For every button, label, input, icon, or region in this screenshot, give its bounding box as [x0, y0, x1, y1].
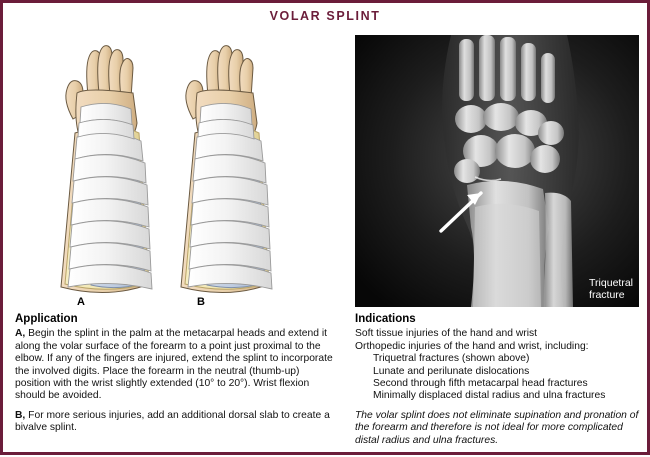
xray-caption-line-1: Triquetral: [589, 277, 633, 289]
application-paragraph-a: A, Begin the splint in the palm at the m…: [15, 328, 337, 402]
splint-illustration: A: [15, 33, 335, 309]
xray-caption: Triquetral fracture: [589, 277, 633, 301]
list-item: Second through fifth metacarpal head fra…: [373, 378, 640, 390]
application-column: Application A, Begin the splint in the p…: [15, 313, 337, 442]
indications-heading: Indications: [355, 313, 640, 325]
figure-label-b: B: [197, 296, 205, 308]
page-content: A: [3, 29, 647, 452]
indications-line-1: Soft tissue injuries of the hand and wri…: [355, 328, 640, 340]
indications-note: The volar splint does not eliminate supi…: [355, 410, 640, 447]
splint-figure-a: A: [61, 46, 152, 308]
figure-label-a: A: [77, 296, 85, 308]
application-heading: Application: [15, 313, 337, 325]
list-item: Minimally displaced distal radius and ul…: [373, 390, 640, 402]
figure-area: A: [3, 29, 647, 309]
xray-caption-line-2: fracture: [589, 289, 633, 301]
indications-sublist: Triquetral fractures (shown above) Lunat…: [355, 353, 640, 403]
application-text-b: For more serious injuries, add an additi…: [15, 410, 330, 433]
application-marker-b: B,: [15, 410, 25, 421]
title-bar: VOLAR SPLINT: [3, 3, 647, 29]
figure-page: VOLAR SPLINT: [0, 0, 650, 455]
page-title: VOLAR SPLINT: [270, 9, 381, 23]
splint-illustration-svg: A: [15, 33, 335, 309]
indications-column: Indications Soft tissue injuries of the …: [355, 313, 640, 457]
splint-figure-b: B: [181, 46, 272, 308]
list-item: Lunate and perilunate dislocations: [373, 366, 640, 378]
application-paragraph-b: B, For more serious injuries, add an add…: [15, 410, 337, 435]
xray-image: Triquetral fracture: [355, 35, 639, 307]
application-text-a: Begin the splint in the palm at the meta…: [15, 328, 333, 401]
application-marker-a: A,: [15, 328, 25, 339]
indications-line-2: Orthopedic injuries of the hand and wris…: [355, 341, 640, 353]
xray-svg: [355, 35, 639, 307]
list-item: Triquetral fractures (shown above): [373, 353, 640, 365]
